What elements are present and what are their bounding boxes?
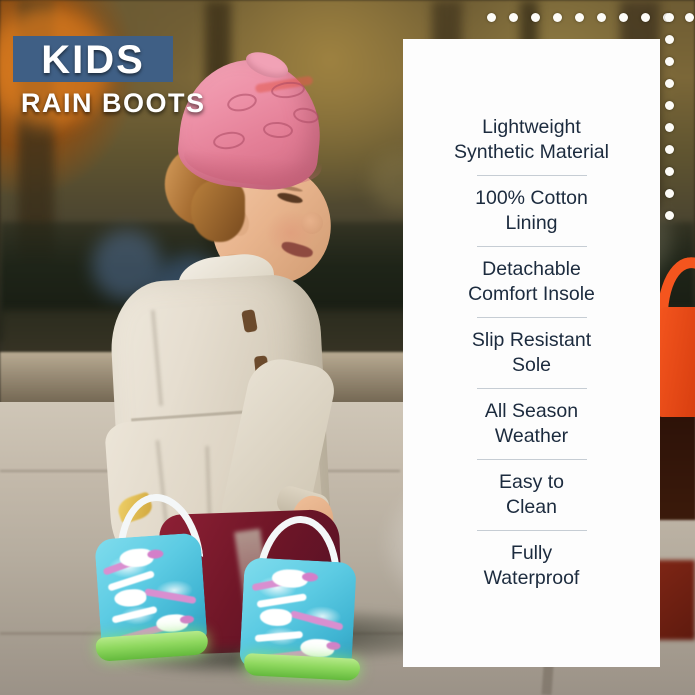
- decorative-dot: [553, 13, 562, 22]
- decorative-dot: [509, 13, 518, 22]
- feature-item-all-season-weather: All Season Weather: [403, 389, 660, 459]
- rainbow-stripe: [290, 610, 344, 631]
- cloud-stripe: [111, 606, 157, 624]
- unicorn-tail: [302, 572, 318, 582]
- kids-badge: KIDS: [13, 36, 173, 82]
- rain-boot-left: [90, 494, 230, 662]
- rain-boot-right: [230, 516, 380, 676]
- decorative-dot: [665, 35, 674, 44]
- decorative-dot: [487, 13, 496, 22]
- hair: [191, 180, 245, 242]
- boot-body: [658, 307, 695, 417]
- decorative-dot: [619, 13, 628, 22]
- nose: [301, 212, 323, 234]
- unicorn-tail: [147, 549, 164, 559]
- feature-item-cotton-lining: 100% Cotton Lining: [403, 176, 660, 246]
- decorative-dot: [665, 79, 674, 88]
- feature-item-easy-to-clean: Easy to Clean: [403, 460, 660, 530]
- unicorn-print: [259, 608, 292, 627]
- unicorn-tail: [180, 615, 195, 624]
- decorative-dot: [531, 13, 540, 22]
- feature-list-panel: Lightweight Synthetic Material100% Cotto…: [403, 39, 660, 667]
- feature-item-slip-resistant-sole: Slip Resistant Sole: [403, 318, 660, 388]
- product-title-block: KIDS RAIN BOOTS: [13, 36, 273, 119]
- rainbow-stripe: [144, 588, 196, 604]
- product-infographic: KIDS RAIN BOOTS Lightweight Synthetic Ma…: [0, 0, 695, 695]
- decorative-dot: [665, 13, 674, 22]
- unicorn-print: [114, 588, 147, 607]
- cloud-stripe: [255, 631, 303, 642]
- decorative-dot: [641, 13, 650, 22]
- decorative-dot: [665, 189, 674, 198]
- decorative-dot: [665, 57, 674, 66]
- decorative-dot: [685, 13, 694, 22]
- product-subtitle: RAIN BOOTS: [21, 88, 273, 119]
- decorative-dot: [575, 13, 584, 22]
- feature-item-fully-waterproof: Fully Waterproof: [403, 531, 660, 601]
- unicorn-tail: [326, 642, 340, 651]
- decorative-dot: [665, 167, 674, 176]
- decorative-dot: [665, 101, 674, 110]
- feature-item-lightweight-synthetic-material: Lightweight Synthetic Material: [403, 105, 660, 175]
- page-title: KIDS: [41, 40, 145, 80]
- cloud-stripe: [256, 593, 306, 608]
- decorative-dot: [665, 211, 674, 220]
- decorative-dot: [665, 123, 674, 132]
- decorative-dot: [665, 145, 674, 154]
- feature-item-detachable-comfort-insole: Detachable Comfort Insole: [403, 247, 660, 317]
- decorative-dot: [597, 13, 606, 22]
